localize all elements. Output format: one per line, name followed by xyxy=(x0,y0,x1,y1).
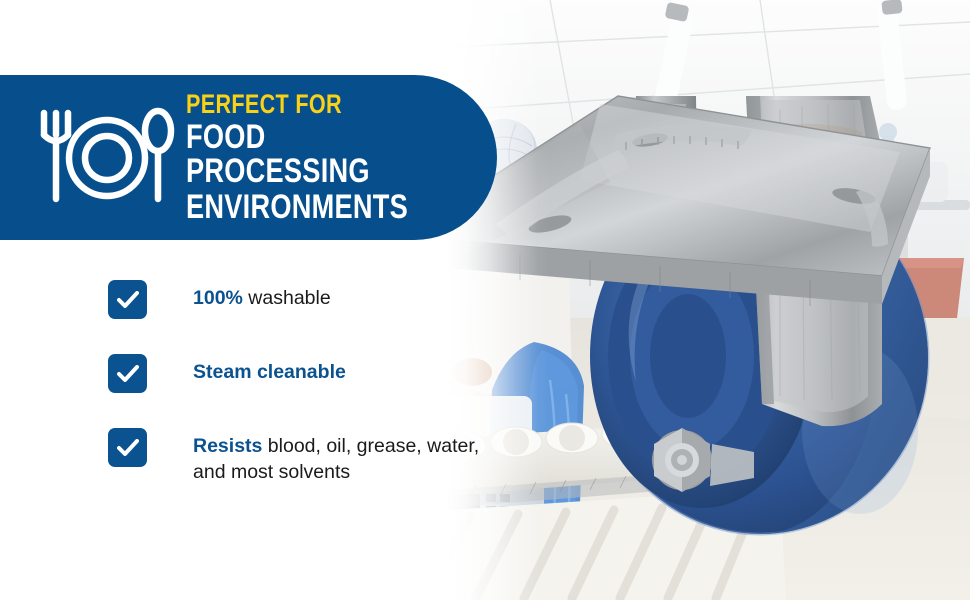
food-plant-scene: DURASTAR xyxy=(430,0,970,600)
feature-emphasis: 100% xyxy=(193,287,243,309)
feature-list: 100% washable Steam cleanable Resists bl… xyxy=(108,280,508,485)
feature-item-steam-cleanable: Steam cleanable xyxy=(108,354,508,393)
checkmark-icon xyxy=(117,291,139,309)
checkmark-icon xyxy=(117,365,139,383)
feature-text-steam-cleanable: Steam cleanable xyxy=(193,354,346,386)
checkmark-icon xyxy=(117,439,139,457)
header-banner: PERFECT FOR FOOD PROCESSING ENVIRONMENTS xyxy=(0,75,497,240)
checkbox-washable xyxy=(108,280,147,319)
plate-fork-spoon-icon xyxy=(36,105,178,211)
product-photo: DURASTAR xyxy=(430,0,970,600)
checkbox-steam-cleanable xyxy=(108,354,147,393)
headline-line-1: FOOD PROCESSING xyxy=(186,120,435,188)
checkbox-resists xyxy=(108,428,147,467)
headline-kicker: PERFECT FOR xyxy=(186,91,435,118)
promo-banner: DURASTAR xyxy=(0,0,970,600)
feature-text-resists: Resists blood, oil, grease, water, and m… xyxy=(193,428,493,485)
headline-block: PERFECT FOR FOOD PROCESSING ENVIRONMENTS xyxy=(186,91,497,224)
feature-item-resists: Resists blood, oil, grease, water, and m… xyxy=(108,428,508,485)
feature-text-washable: 100% washable xyxy=(193,280,331,312)
feature-item-washable: 100% washable xyxy=(108,280,508,319)
feature-emphasis: Resists xyxy=(193,435,262,457)
feature-rest: washable xyxy=(243,287,331,309)
headline-line-2: ENVIRONMENTS xyxy=(186,190,435,224)
